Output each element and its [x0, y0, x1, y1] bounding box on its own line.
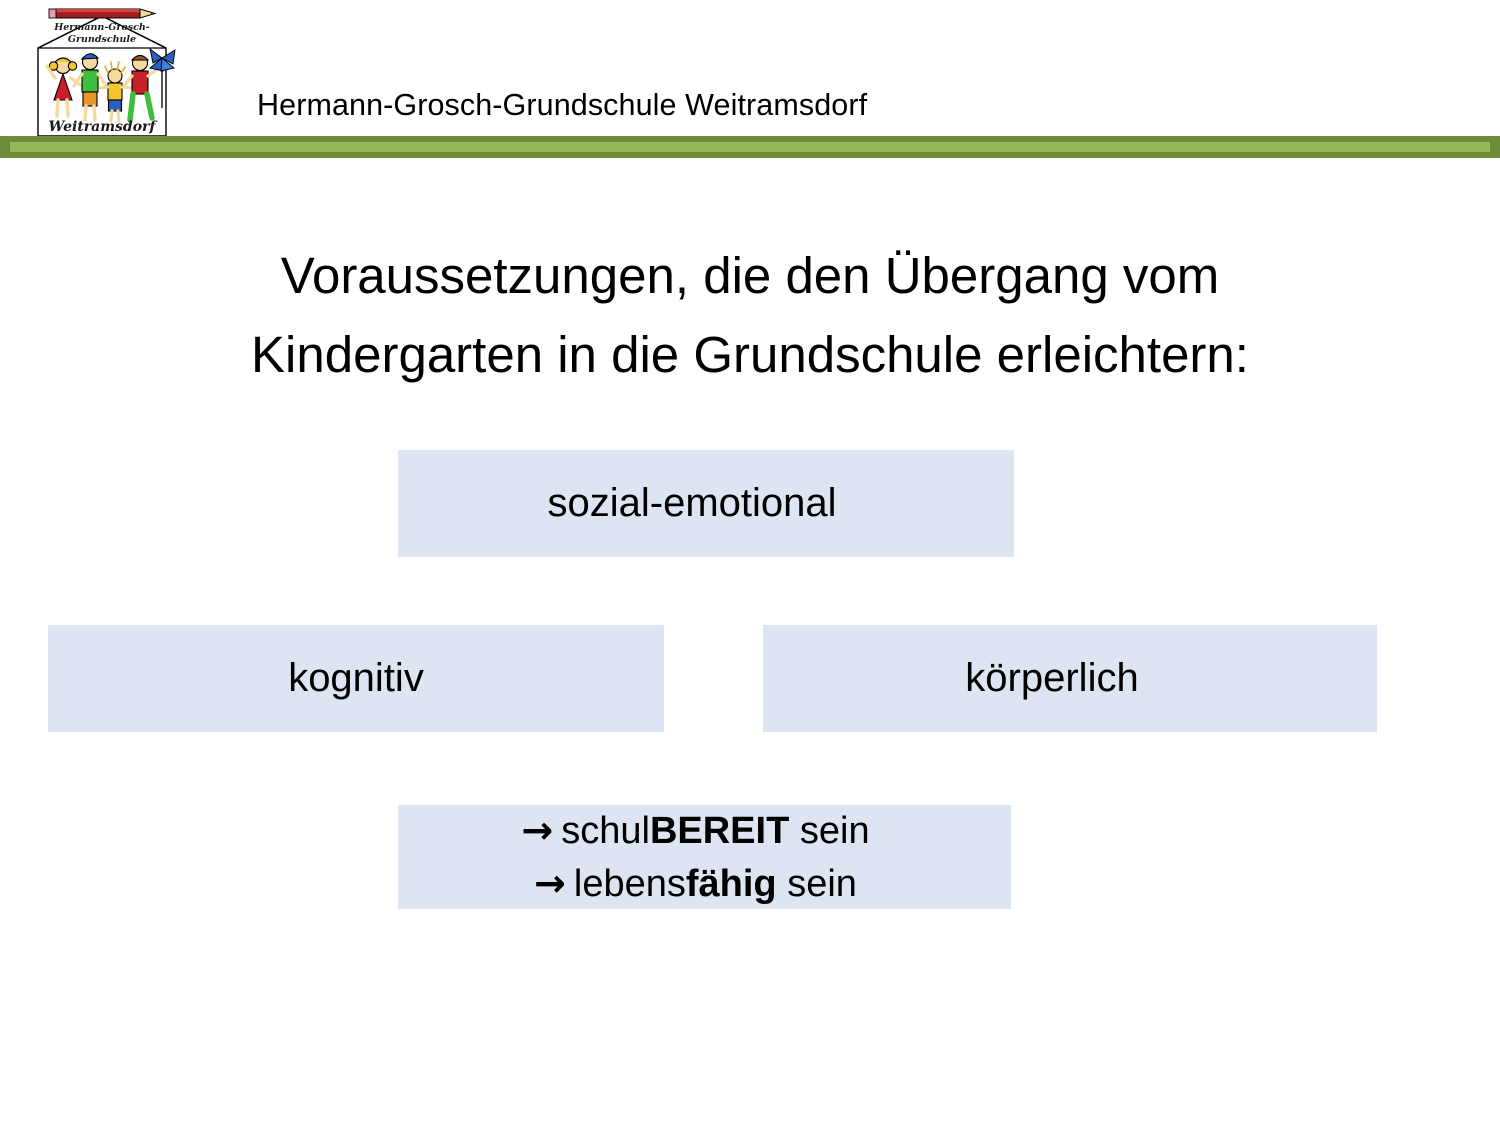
goal-1-prefix: schul — [561, 810, 650, 852]
box-sozial-emotional: sozial-emotional — [398, 450, 1014, 557]
slide-title: Voraussetzungen, die den Übergang vom Ki… — [90, 236, 1410, 394]
goal-2-prefix: lebens — [574, 863, 686, 905]
box-sozial-emotional-label: sozial-emotional — [547, 481, 836, 526]
header-divider-rule — [0, 136, 1500, 158]
logo-school-line1: Hermann-Grosch- — [53, 22, 149, 33]
goal-line-lebensfaehig: →lebensfähig sein — [534, 857, 857, 910]
box-kognitiv: kognitiv — [48, 625, 664, 732]
logo-town-name: Weitramsdorf — [49, 119, 159, 135]
goal-line-schulbereit: →schulBEREIT sein — [521, 804, 869, 857]
goal-2-suffix: sein — [777, 863, 857, 905]
presentation-slide: Hermann-Grosch- Grundschule — [0, 0, 1500, 1125]
box-koerperlich-label: körperlich — [965, 656, 1138, 701]
arrow-right-icon: → — [534, 861, 574, 905]
school-logo: Hermann-Grosch- Grundschule — [22, 4, 182, 144]
slide-title-line-1: Voraussetzungen, die den Übergang vom — [90, 236, 1410, 315]
goal-2-bold: fähig — [686, 863, 777, 905]
header-school-name: Hermann-Grosch-Grundschule Weitramsdorf — [257, 86, 867, 124]
goal-1-bold: BEREIT — [650, 810, 789, 852]
goal-1-suffix: sein — [789, 810, 869, 852]
slide-header: Hermann-Grosch- Grundschule — [0, 0, 1500, 136]
slide-title-line-2: Kindergarten in die Grundschule erleicht… — [90, 315, 1410, 394]
arrow-right-icon: → — [521, 808, 561, 852]
box-goals: →schulBEREIT sein →lebensfähig sein — [398, 805, 1011, 909]
logo-school-line2: Grundschule — [68, 34, 136, 45]
box-koerperlich: körperlich — [763, 625, 1377, 732]
box-kognitiv-label: kognitiv — [288, 656, 424, 701]
divider-inner-band — [10, 142, 1490, 152]
